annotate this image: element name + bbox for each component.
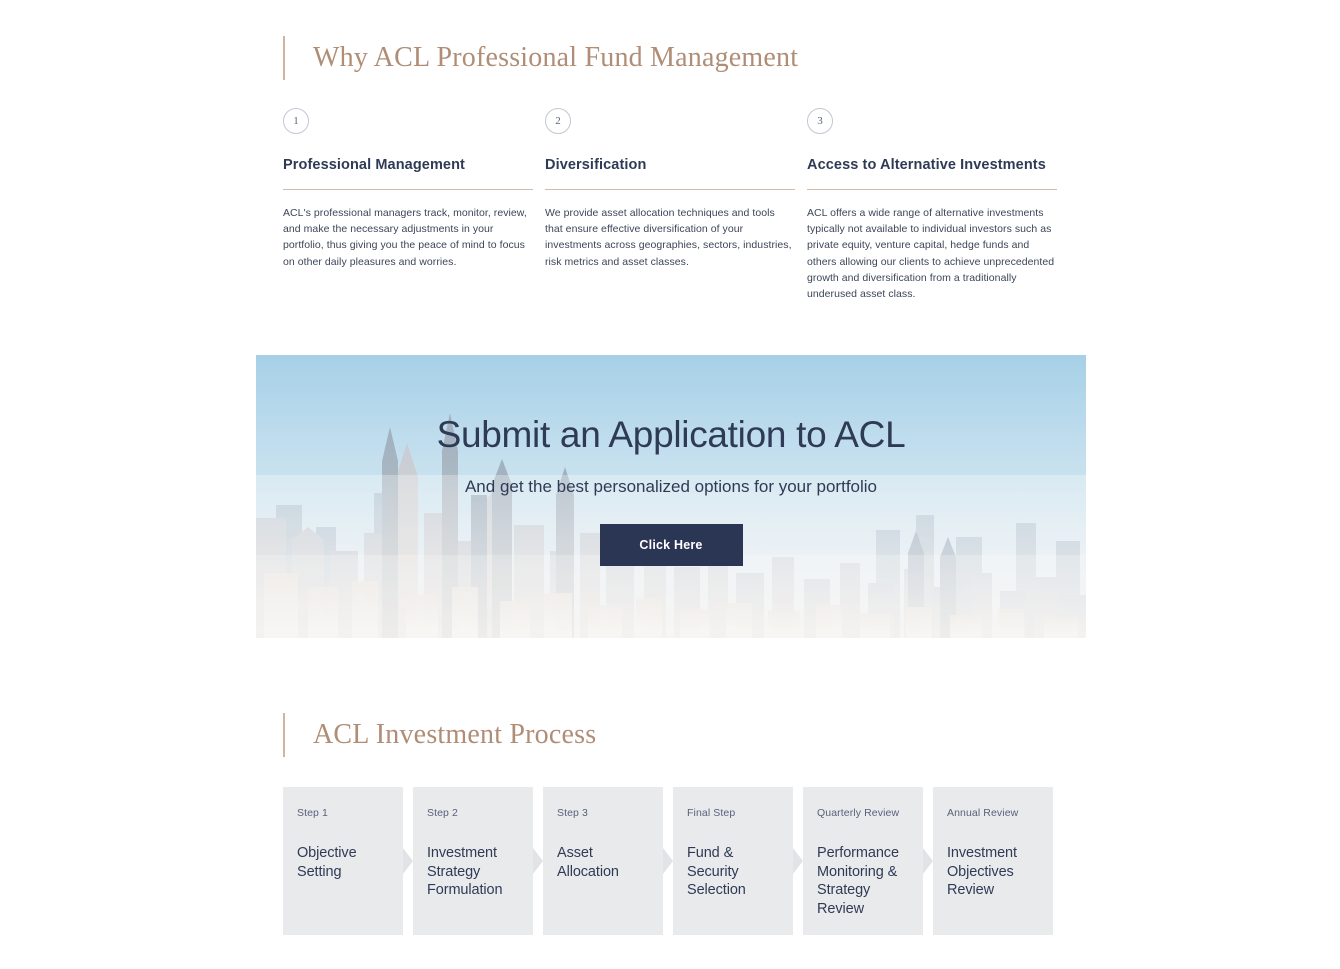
- step-name: Investment Objectives Review: [947, 844, 1039, 900]
- banner-content: Submit an Application to ACL And get the…: [256, 355, 1086, 638]
- step-name: Fund & Security Selection: [687, 844, 779, 900]
- step-name: Asset Allocation: [557, 844, 649, 881]
- why-section-heading: Why ACL Professional Fund Management: [283, 36, 798, 80]
- process-step-card[interactable]: Step 2 Investment Strategy Formulation: [413, 787, 533, 935]
- chevron-right-icon: [533, 787, 543, 935]
- feature-divider: [807, 189, 1057, 190]
- feature-title: Access to Alternative Investments: [807, 156, 1057, 175]
- step-name: Investment Strategy Formulation: [427, 844, 519, 900]
- heading-accent-bar: [283, 36, 285, 80]
- process-step-card[interactable]: Annual Review Investment Objectives Revi…: [933, 787, 1053, 935]
- process-step-card[interactable]: Final Step Fund & Security Selection: [673, 787, 793, 935]
- heading-accent-bar: [283, 713, 285, 757]
- feature-column-3: 3 Access to Alternative Investments ACL …: [807, 108, 1057, 302]
- process-step-card[interactable]: Step 1 Objective Setting: [283, 787, 403, 935]
- step-label: Step 3: [557, 807, 649, 819]
- step-number-badge: 3: [807, 108, 833, 134]
- step-name: Objective Setting: [297, 844, 389, 881]
- step-label: Final Step: [687, 807, 779, 819]
- step-label: Step 1: [297, 807, 389, 819]
- banner-title: Submit an Application to ACL: [437, 414, 906, 456]
- page-title: Why ACL Professional Fund Management: [313, 42, 798, 74]
- click-here-button[interactable]: Click Here: [600, 524, 743, 566]
- feature-columns: 1 Professional Management ACL's professi…: [283, 108, 1073, 302]
- page-root: Why ACL Professional Fund Management 1 P…: [0, 0, 1340, 969]
- chevron-right-icon: [923, 787, 933, 935]
- feature-title: Professional Management: [283, 156, 533, 175]
- process-section-heading: ACL Investment Process: [283, 713, 596, 757]
- application-banner: Submit an Application to ACL And get the…: [256, 355, 1086, 638]
- feature-title: Diversification: [545, 156, 795, 175]
- process-steps: Step 1 Objective Setting Step 2 Investme…: [283, 787, 1053, 935]
- feature-column-1: 1 Professional Management ACL's professi…: [283, 108, 533, 302]
- process-step-card[interactable]: Quarterly Review Performance Monitoring …: [803, 787, 923, 935]
- step-label: Annual Review: [947, 807, 1039, 819]
- step-label: Quarterly Review: [817, 807, 909, 819]
- feature-divider: [283, 189, 533, 190]
- banner-subtitle: And get the best personalized options fo…: [465, 475, 877, 500]
- process-title: ACL Investment Process: [313, 719, 596, 751]
- step-name: Performance Monitoring & Strategy Review: [817, 844, 909, 918]
- chevron-right-icon: [663, 787, 673, 935]
- chevron-right-icon: [793, 787, 803, 935]
- step-number-badge: 1: [283, 108, 309, 134]
- process-step-card[interactable]: Step 3 Asset Allocation: [543, 787, 663, 935]
- feature-divider: [545, 189, 795, 190]
- feature-column-2: 2 Diversification We provide asset alloc…: [545, 108, 795, 302]
- feature-body: We provide asset allocation techniques a…: [545, 205, 795, 270]
- feature-body: ACL offers a wide range of alternative i…: [807, 205, 1057, 303]
- step-label: Step 2: [427, 807, 519, 819]
- feature-body: ACL's professional managers track, monit…: [283, 205, 533, 270]
- chevron-right-icon: [403, 787, 413, 935]
- step-number-badge: 2: [545, 108, 571, 134]
